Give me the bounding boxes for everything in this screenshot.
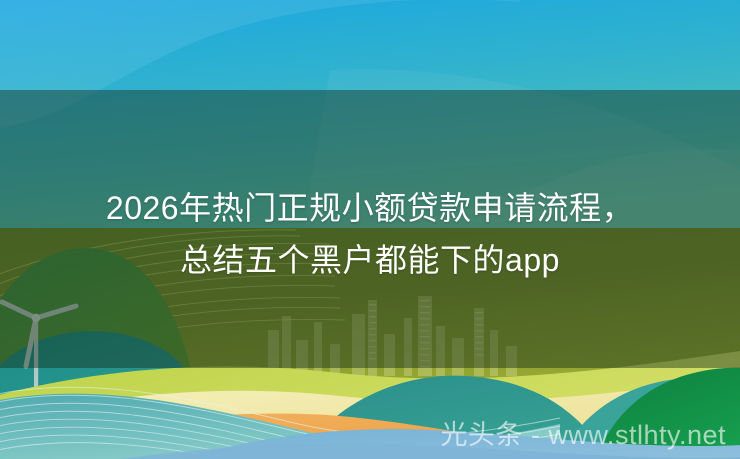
headline-line-2: 总结五个黑户都能下的app [0, 234, 740, 286]
page-title: 2026年热门正规小额贷款申请流程， 总结五个黑户都能下的app [0, 182, 740, 286]
site-watermark: 光头条 - www.stlhty.net [440, 419, 726, 451]
headline-line-1: 2026年热门正规小额贷款申请流程， [0, 182, 740, 234]
poster-banner: 2026年热门正规小额贷款申请流程， 总结五个黑户都能下的app 光头条 - w… [0, 0, 740, 459]
